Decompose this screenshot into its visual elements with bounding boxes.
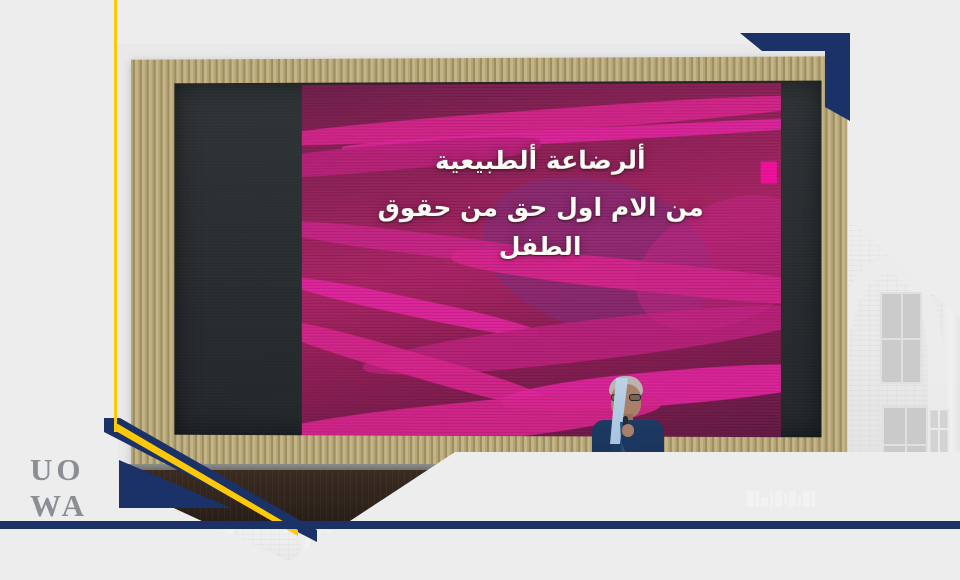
slide-line-1: ألرضاعة ألطبيعية (302, 145, 781, 175)
arabic-kufic-wordmark (745, 486, 817, 512)
navy-bottom-band (0, 521, 960, 529)
window-glass (880, 292, 922, 384)
yellow-vertical-rule (114, 0, 117, 432)
wooden-screen-frame: ألرضاعة ألطبيعية من الام اول حق من حقوق … (131, 56, 847, 471)
slide-title-block: ألرضاعة ألطبيعية من الام اول حق من حقوق … (302, 145, 781, 261)
slide-line-3: الطفل (302, 232, 781, 261)
presenter-hand (622, 424, 634, 437)
screenshot-root: ألرضاعة ألطبيعية من الام اول حق من حقوق … (0, 0, 960, 580)
uowa-logo-line-2: WA (30, 488, 114, 524)
presentation-slide: ألرضاعة ألطبيعية من الام اول حق من حقوق … (302, 83, 781, 437)
uowa-logo: UO WA (30, 452, 114, 524)
led-screen: ألرضاعة ألطبيعية من الام اول حق من حقوق … (174, 81, 821, 438)
slide-line-2: من الام اول حق من حقوق (302, 193, 781, 223)
uowa-logo-line-1: UO (30, 452, 114, 488)
